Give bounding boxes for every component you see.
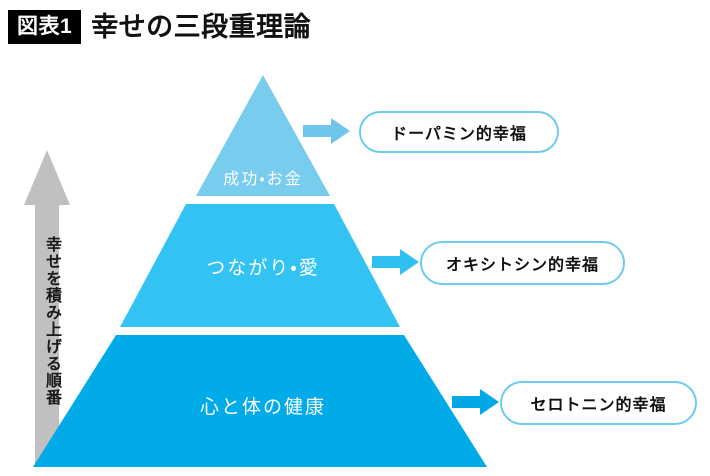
connector-arrow-top	[303, 118, 350, 144]
vertical-arrow-caption: 幸せを積み上げる順番	[34, 236, 60, 436]
tier-label-middle: つながり・愛	[206, 253, 319, 280]
tier-label-bottom: 心と体の健康	[200, 392, 326, 419]
callout-pill-serotonin: セロトニン的幸福	[500, 381, 697, 425]
callout-pill-dopamine: ドーパミン的幸福	[359, 111, 559, 153]
connector-arrow-bottom	[452, 389, 499, 415]
pyramid-diagram: 成功・お金 つながり・愛 心と体の健康 幸せを積み上げる順番 ドーパミン的幸福 …	[0, 0, 710, 476]
tier-label-top: 成功・お金	[223, 165, 302, 189]
callout-pill-oxytocin: オキシトシン的幸福	[420, 241, 625, 285]
connector-arrow-middle	[372, 249, 419, 275]
